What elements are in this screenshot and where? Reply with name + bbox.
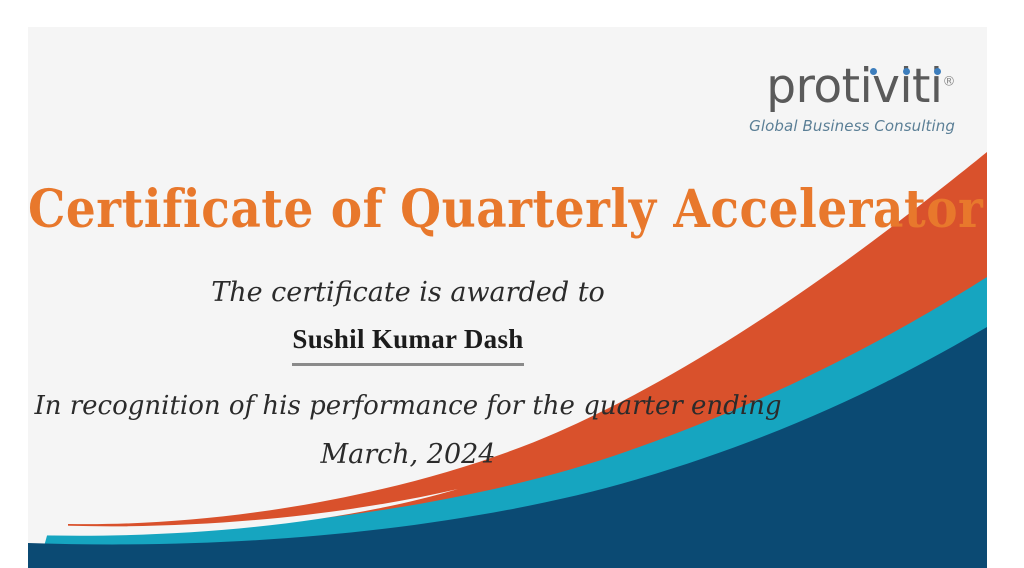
certificate-card: protiviti® Global Business Consulting Ce…	[28, 27, 987, 568]
recognition-text: In recognition of his performance for th…	[28, 391, 788, 421]
recipient-name-underline	[292, 363, 524, 366]
certificate-page: protiviti® Global Business Consulting Ce…	[0, 0, 1024, 568]
quarter-ending-date: March, 2024	[28, 439, 788, 470]
logo-wordmark-text: protiviti	[766, 59, 942, 114]
recipient-name: Sushil Kumar Dash	[292, 324, 523, 355]
logo-i-dot-icon-1	[870, 68, 877, 75]
logo-wordmark-row: protiviti®	[749, 63, 955, 110]
awarded-to-label: The certificate is awarded to	[28, 277, 788, 308]
logo-tagline: Global Business Consulting	[749, 117, 955, 135]
protiviti-logo: protiviti® Global Business Consulting	[749, 63, 955, 135]
certificate-title: Certificate of Quarterly Accelerator Awa…	[28, 179, 928, 241]
registered-trademark-icon: ®	[943, 74, 956, 89]
logo-i-dot-icon-3	[934, 68, 941, 75]
logo-i-dot-icon-2	[903, 68, 910, 75]
recipient-block: Sushil Kumar Dash	[28, 324, 788, 366]
